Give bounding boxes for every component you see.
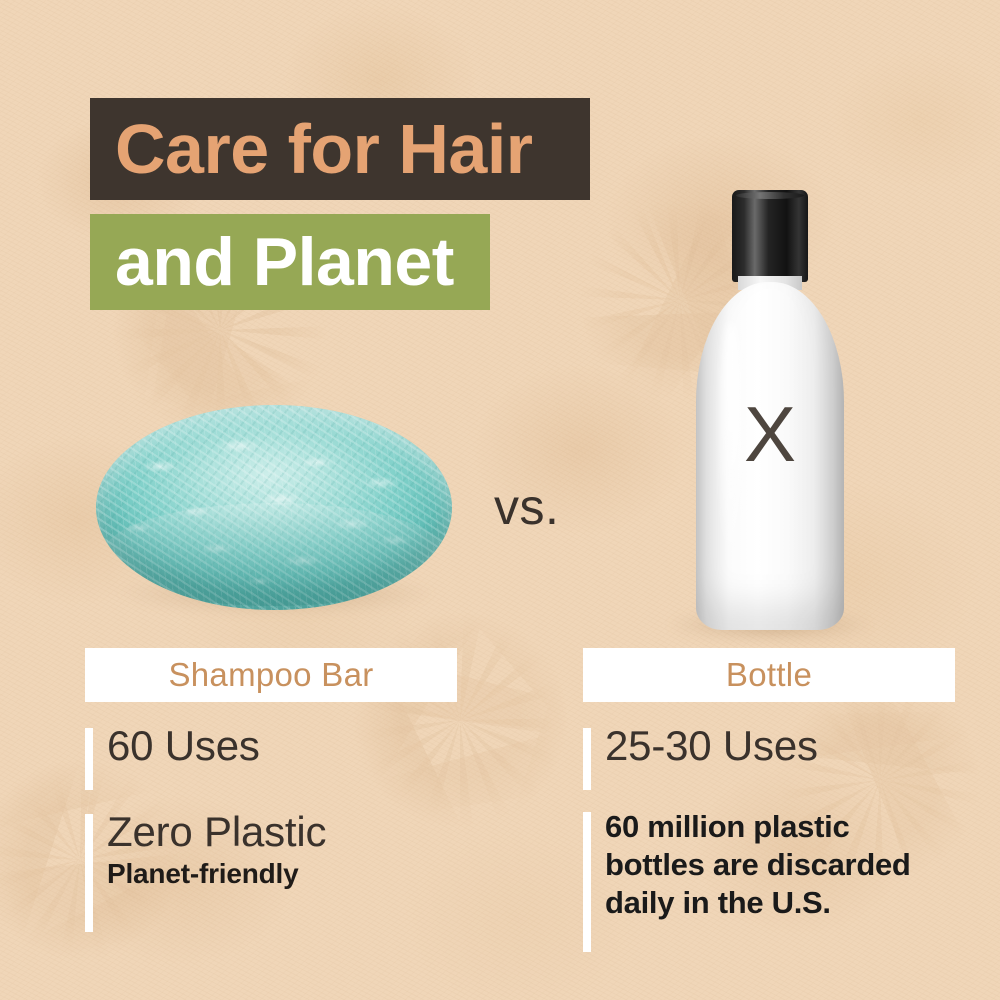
infographic-canvas: Care for Hair and Planet vs. X Shampoo B… bbox=[0, 0, 1000, 1000]
column-label-bottle: Bottle bbox=[583, 648, 955, 702]
fact-accent-bar bbox=[583, 728, 591, 790]
fact-shampoo-bar-uses: 60 Uses bbox=[85, 724, 457, 768]
comparison-column-shampoo-bar: Shampoo Bar 60 Uses Zero Plastic Planet-… bbox=[85, 648, 457, 890]
fact-bottle-uses-headline: 25-30 Uses bbox=[605, 724, 955, 768]
fact-shampoo-bar-plastic-headline: Zero Plastic bbox=[107, 810, 457, 854]
fact-shampoo-bar-uses-headline: 60 Uses bbox=[107, 724, 457, 768]
headline-line-2: and Planet bbox=[115, 228, 454, 296]
fact-accent-bar bbox=[85, 814, 93, 932]
fact-bottle-uses: 25-30 Uses bbox=[583, 724, 955, 768]
fact-shampoo-bar-plastic: Zero Plastic Planet-friendly bbox=[85, 810, 457, 889]
shampoo-bar-image bbox=[96, 405, 452, 610]
bottle-cap bbox=[732, 190, 808, 282]
headline-banner-secondary: and Planet bbox=[90, 214, 490, 310]
versus-separator: vs. bbox=[494, 478, 559, 536]
fact-bottle-waste-body: 60 million plastic bottles are discarded… bbox=[605, 808, 955, 921]
fact-bottle-waste: 60 million plastic bottles are discarded… bbox=[583, 808, 955, 921]
column-label-shampoo-bar: Shampoo Bar bbox=[85, 648, 457, 702]
headline-line-1: Care for Hair bbox=[115, 114, 533, 184]
comparison-column-bottle: Bottle 25-30 Uses 60 million plastic bot… bbox=[583, 648, 955, 922]
fact-shampoo-bar-plastic-sub: Planet-friendly bbox=[107, 858, 457, 889]
bottle-image: X bbox=[690, 190, 850, 630]
bottle-x-mark-icon: X bbox=[690, 395, 850, 473]
shampoo-bar-body bbox=[96, 405, 452, 610]
headline-banner-primary: Care for Hair bbox=[90, 98, 590, 200]
fact-accent-bar bbox=[85, 728, 93, 790]
fact-accent-bar bbox=[583, 812, 591, 952]
shampoo-bar-lower-rim bbox=[103, 503, 445, 606]
